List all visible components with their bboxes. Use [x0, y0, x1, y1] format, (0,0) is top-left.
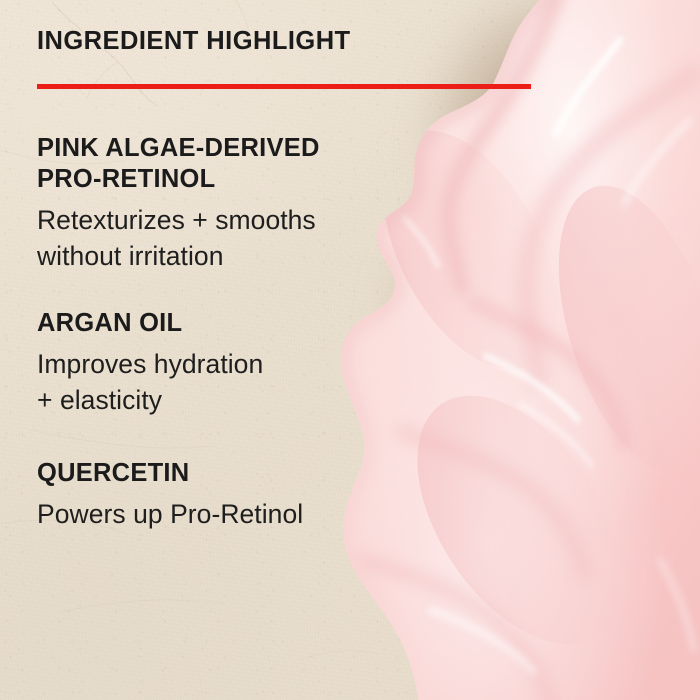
ingredient-block: ARGAN OIL Improves hydration + elasticit… [37, 308, 263, 418]
ingredient-name: PINK ALGAE-DERIVED PRO-RETINOL [37, 133, 320, 195]
ingredient-block: QUERCETIN Powers up Pro-Retinol [37, 458, 303, 532]
accent-rule [37, 84, 531, 89]
page-title: INGREDIENT HIGHLIGHT [37, 27, 351, 56]
ingredient-benefit: Retexturizes + smooths without irritatio… [37, 202, 320, 274]
ingredient-benefit: Powers up Pro-Retinol [37, 496, 303, 532]
ingredient-benefit: Improves hydration + elasticity [37, 346, 263, 418]
ingredient-name: ARGAN OIL [37, 308, 263, 339]
ingredient-highlight-graphic: INGREDIENT HIGHLIGHT PINK ALGAE-DERIVED … [0, 0, 700, 700]
ingredient-block: PINK ALGAE-DERIVED PRO-RETINOL Retexturi… [37, 133, 320, 274]
ingredient-name: QUERCETIN [37, 458, 303, 489]
